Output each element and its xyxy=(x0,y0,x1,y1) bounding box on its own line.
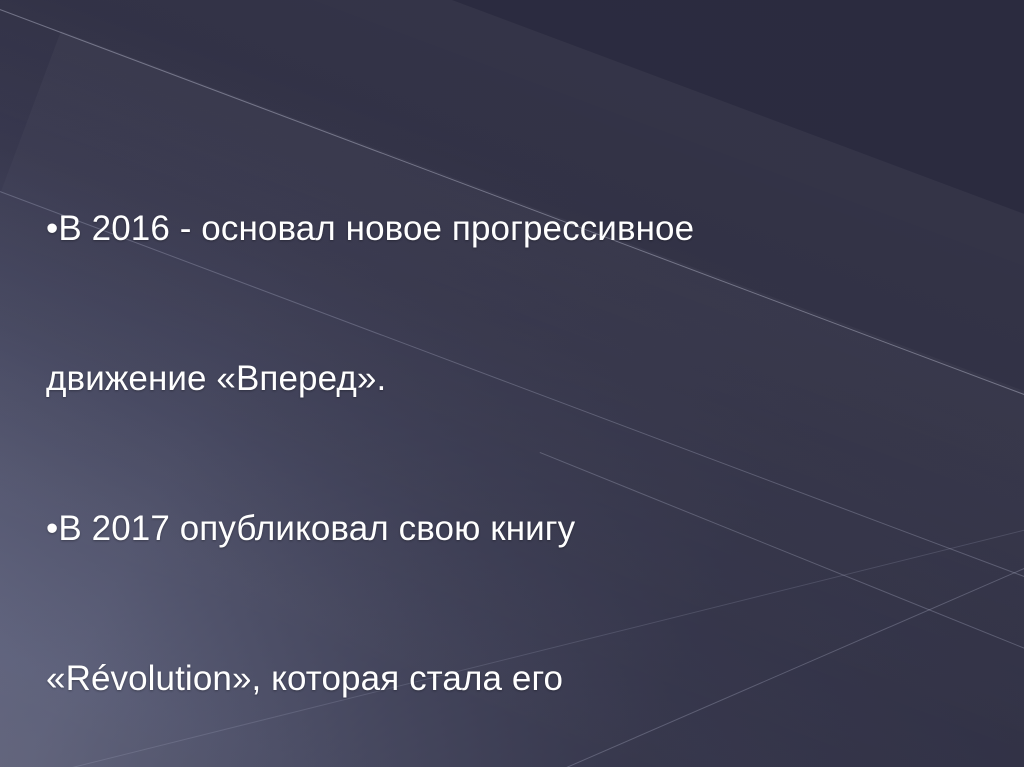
slide-text-line: •В 2017 опубликовал свою книгу xyxy=(46,504,976,554)
slide-text-line: •В 2016 - основал новое прогрессивное xyxy=(46,204,976,254)
slide-text-line: «Révolution», которая стала его xyxy=(46,654,976,704)
presentation-slide: •В 2016 - основал новое прогрессивное дв… xyxy=(0,0,1024,767)
slide-body-text: •В 2016 - основал новое прогрессивное дв… xyxy=(46,104,976,767)
slide-text-line: движение «Вперед». xyxy=(46,354,976,404)
